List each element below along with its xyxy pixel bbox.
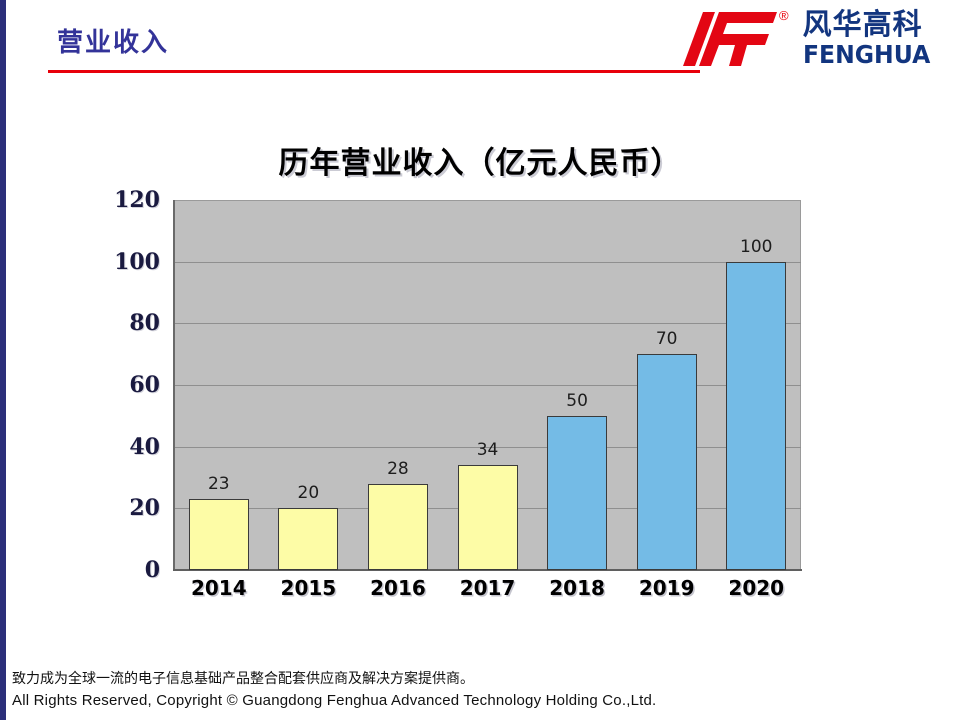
bar-value-label: 50 — [566, 391, 588, 411]
slide-header: 营业收入 ® 风华高科 FENGHUA — [0, 0, 960, 88]
bar-2017[interactable]: 34 — [458, 465, 518, 570]
bar-value-label: 34 — [477, 440, 499, 460]
x-axis-label-2014: 2014 — [174, 576, 264, 600]
bar-slot: 20 — [264, 200, 354, 570]
bar-value-label: 28 — [387, 459, 409, 479]
x-axis-label-2020: 2020 — [711, 576, 801, 600]
y-axis-tick-label: 120 — [114, 187, 160, 213]
chart-bars: 232028345070100 — [174, 200, 801, 570]
chart-title: 历年营业收入（亿元人民币） — [0, 138, 960, 182]
logo-wordmark: 风华高科 FENGHUA — [803, 10, 938, 67]
y-axis-tick-label: 20 — [129, 495, 160, 521]
bar-2020[interactable]: 100 — [726, 262, 786, 570]
x-axis-label-2016: 2016 — [353, 576, 443, 600]
bar-2019[interactable]: 70 — [637, 354, 697, 570]
x-axis-label-2015: 2015 — [264, 576, 354, 600]
bar-slot: 23 — [174, 200, 264, 570]
x-axis-label-2017: 2017 — [443, 576, 533, 600]
bar-slot: 34 — [443, 200, 533, 570]
y-axis-tick-label: 80 — [129, 310, 160, 336]
bar-2018[interactable]: 50 — [547, 416, 607, 570]
page-title: 营业收入 — [57, 22, 169, 59]
x-axis-label-2019: 2019 — [622, 576, 712, 600]
revenue-chart: 历年营业收入（亿元人民币） 020406080100120 2320283450… — [0, 120, 960, 620]
bar-2015[interactable]: 20 — [278, 508, 338, 570]
bar-slot: 70 — [622, 200, 712, 570]
bar-value-label: 70 — [656, 329, 678, 349]
company-logo: ® 风华高科 FENGHUA — [681, 7, 938, 69]
y-axis-tick-label: 100 — [114, 249, 160, 275]
chart-plot-outer: 020406080100120 232028345070100 — [174, 200, 801, 570]
x-axis-label-2018: 2018 — [532, 576, 622, 600]
y-axis-tick-label: 60 — [129, 372, 160, 398]
bar-value-label: 100 — [740, 237, 772, 257]
logo-english-name: FENGHUA — [803, 42, 930, 67]
bar-value-label: 20 — [298, 483, 320, 503]
bar-slot: 50 — [532, 200, 622, 570]
footer-copyright: All Rights Reserved, Copyright © Guangdo… — [12, 690, 952, 713]
bar-slot: 28 — [353, 200, 443, 570]
bar-2014[interactable]: 23 — [189, 499, 249, 570]
title-underline-rule — [48, 70, 700, 73]
bar-slot: 100 — [711, 200, 801, 570]
bar-value-label: 23 — [208, 474, 230, 494]
bar-2016[interactable]: 28 — [368, 484, 428, 570]
logo-chinese-name: 风华高科 — [803, 10, 938, 39]
slide-footer: 致力成为全球一流的电子信息基础产品整合配套供应商及解决方案提供商。 All Ri… — [12, 669, 952, 713]
y-axis-tick-label: 40 — [129, 434, 160, 460]
footer-chinese-tagline: 致力成为全球一流的电子信息基础产品整合配套供应商及解决方案提供商。 — [12, 669, 952, 690]
fenghua-fh-mark-icon: ® — [681, 8, 791, 68]
registered-trademark-icon: ® — [779, 9, 789, 22]
y-axis-tick-label: 0 — [145, 557, 160, 583]
chart-x-axis-labels: 2014201520162017201820192020 — [174, 576, 801, 600]
